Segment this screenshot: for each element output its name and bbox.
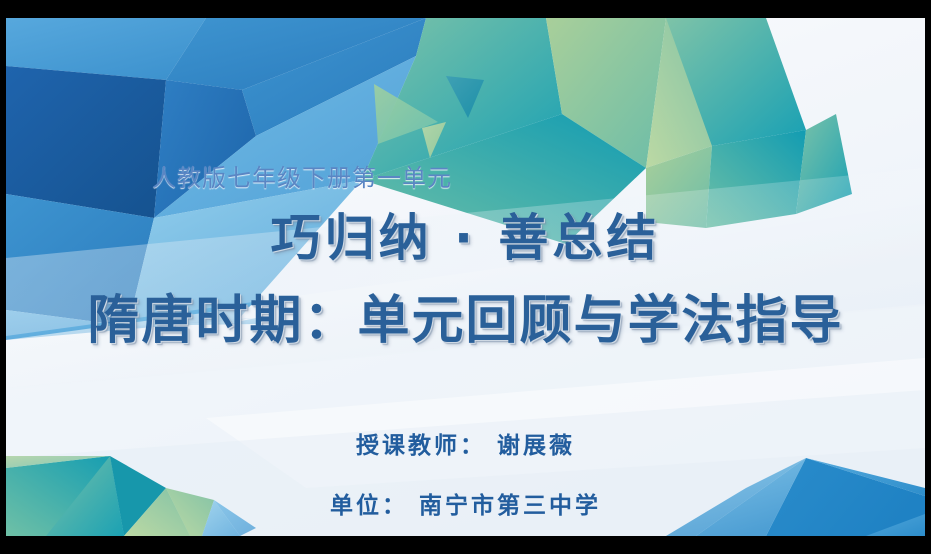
slide-title-secondary: 隋唐时期：单元回顾与学法指导 (6, 292, 925, 352)
credit-teacher: 授课教师： 谢展薇 (6, 426, 925, 460)
slide-title-primary: 巧归纳 · 善总结 (6, 210, 925, 268)
slide-letterbox-frame: 人教版七年级下册第一单元 巧归纳 · 善总结 隋唐时期：单元回顾与学法指导 授课… (0, 0, 931, 554)
slide-credits-block: 授课教师： 谢展薇 单位： 南宁市第三中学 (6, 426, 925, 520)
slide-text-layer: 人教版七年级下册第一单元 巧归纳 · 善总结 隋唐时期：单元回顾与学法指导 授课… (6, 18, 925, 536)
credit-school: 单位： 南宁市第三中学 (6, 486, 925, 520)
slide-eyebrow-text: 人教版七年级下册第一单元 (152, 158, 452, 193)
slide-title-block: 巧归纳 · 善总结 隋唐时期：单元回顾与学法指导 (6, 210, 925, 351)
slide-canvas: 人教版七年级下册第一单元 巧归纳 · 善总结 隋唐时期：单元回顾与学法指导 授课… (6, 18, 925, 536)
